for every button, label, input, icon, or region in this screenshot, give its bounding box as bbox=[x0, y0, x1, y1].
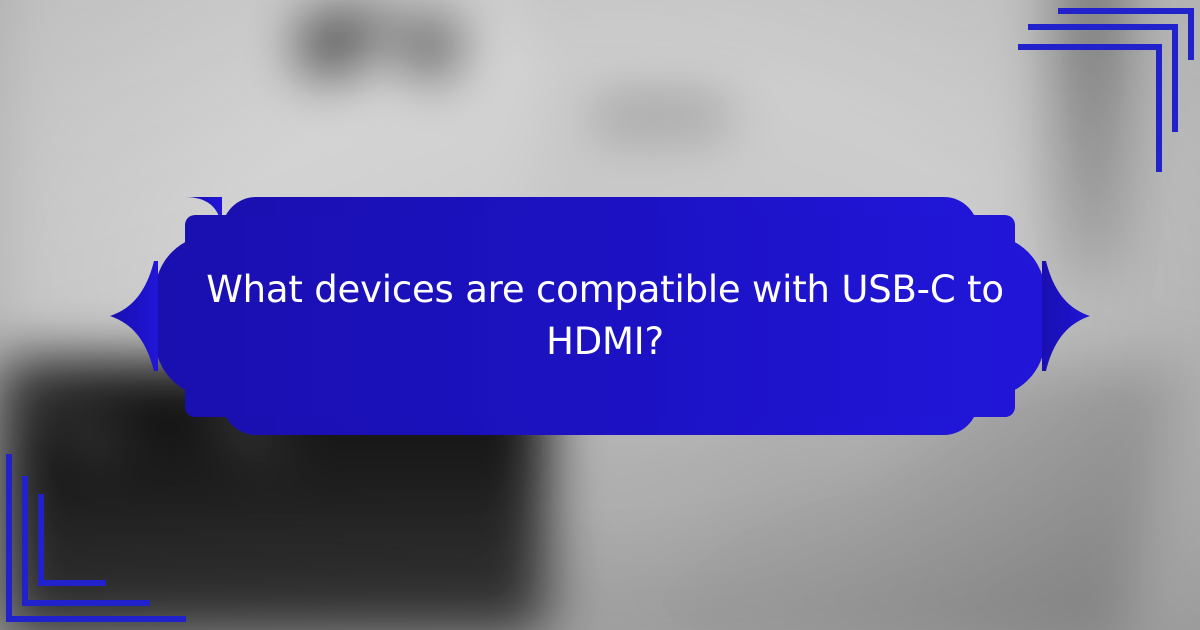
bracket-line-tr-v1 bbox=[1188, 8, 1194, 60]
bracket-line-bl-h2 bbox=[22, 600, 150, 606]
badge-step-shoulders bbox=[185, 215, 1015, 417]
badge-shape-svg bbox=[110, 195, 1090, 437]
bracket-line-bl-v3 bbox=[38, 494, 44, 586]
bracket-line-tr-h3 bbox=[1018, 44, 1162, 50]
bracket-line-bl-v1 bbox=[6, 454, 12, 622]
promo-card: What devices are compatible with USB-C t… bbox=[0, 0, 1200, 630]
bracket-line-bl-h1 bbox=[6, 616, 186, 622]
bracket-line-tr-v2 bbox=[1172, 24, 1178, 132]
bracket-line-bl-v2 bbox=[22, 476, 28, 606]
bracket-line-tr-v3 bbox=[1156, 44, 1162, 172]
badge-spike-left bbox=[110, 261, 158, 371]
bracket-line-tr-h2 bbox=[1028, 24, 1178, 30]
question-badge: What devices are compatible with USB-C t… bbox=[110, 195, 1090, 437]
bracket-line-bl-h3 bbox=[38, 580, 106, 586]
bracket-line-tr-h1 bbox=[1058, 8, 1194, 14]
badge-spike-right bbox=[1042, 261, 1090, 371]
